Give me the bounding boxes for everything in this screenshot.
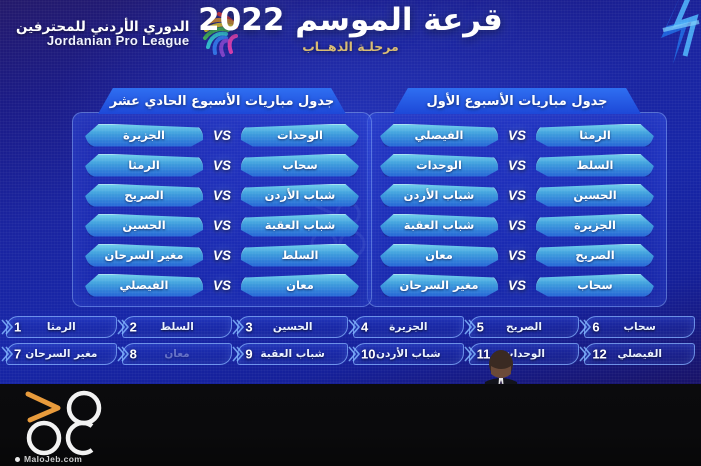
chevron-double-icon bbox=[232, 346, 244, 362]
away-team-pill[interactable]: شباب الأردن bbox=[380, 184, 498, 207]
team-name: الرمثا bbox=[579, 128, 611, 142]
team-number-row-one: 6 سحاب 5 الصريح 4 الجزيرة 3 الحسين bbox=[6, 316, 695, 338]
home-team-pill[interactable]: سحاب bbox=[536, 274, 654, 297]
match-row[interactable]: الرمثا VS الفيصلي bbox=[380, 123, 654, 147]
team-chip-name: الصريح bbox=[506, 321, 542, 333]
vs-label: VS bbox=[502, 278, 532, 293]
team-name: سحاب bbox=[282, 158, 317, 172]
team-chip-number: 2 bbox=[130, 320, 137, 335]
panel-week-one-header: جدول مباريات الأسبوع الأول bbox=[393, 88, 641, 114]
presentation-screenshot: الدوري الأردني للمحترفين Jordanian Pro L… bbox=[0, 0, 701, 466]
away-team-pill[interactable]: الصريح bbox=[85, 184, 203, 207]
team-chip[interactable]: 8 معان bbox=[122, 343, 233, 365]
vs-label: VS bbox=[502, 248, 532, 263]
panel-week-eleven: جدول مباريات الأسبوع الحادي عشر الوحدات … bbox=[72, 88, 372, 307]
watermark-bullet-icon bbox=[15, 457, 20, 462]
chevron-double-icon bbox=[348, 346, 360, 362]
team-chip[interactable]: 4 الجزيرة bbox=[353, 316, 464, 338]
team-chip[interactable]: 1 الرمثا bbox=[6, 316, 117, 338]
schedule-panels: جدول مباريات الأسبوع الأول الرمثا VS الف… bbox=[0, 88, 701, 308]
team-chip-name: الفيصلي bbox=[617, 348, 662, 360]
team-chip-number: 8 bbox=[130, 347, 137, 362]
home-team-pill[interactable]: شباب العقبة bbox=[241, 214, 359, 237]
chevron-double-icon bbox=[579, 346, 591, 362]
team-chip-number: 12 bbox=[592, 347, 606, 362]
page-subtitle: مرحلـة الذهــاب bbox=[0, 39, 701, 54]
chevron-double-icon bbox=[1, 319, 13, 335]
home-team-pill[interactable]: السلط bbox=[241, 244, 359, 267]
home-team-pill[interactable]: سحاب bbox=[241, 154, 359, 177]
panel-week-one-title: جدول مباريات الأسبوع الأول bbox=[426, 94, 607, 109]
away-team-pill[interactable]: مغير السرحان bbox=[380, 274, 498, 297]
match-row[interactable]: شباب الأردن VS الصريح bbox=[85, 183, 359, 207]
malojeb-logo-icon bbox=[14, 386, 126, 458]
team-number-row-two: 12 الفيصلي 11 الوحدات 10 شباب الأردن 9 ش… bbox=[6, 343, 695, 365]
team-chip-name: شباب الأردن bbox=[376, 348, 441, 360]
home-team-pill[interactable]: شباب الأردن bbox=[241, 184, 359, 207]
team-chip-number: 10 bbox=[361, 347, 375, 362]
match-row[interactable]: الجزيرة VS شباب العقبة bbox=[380, 213, 654, 237]
away-team-pill[interactable]: مغير السرحان bbox=[85, 244, 203, 267]
team-name: السلط bbox=[577, 158, 614, 172]
led-presentation-screen: الدوري الأردني للمحترفين Jordanian Pro L… bbox=[0, 0, 701, 386]
away-team-pill[interactable]: الفيصلي bbox=[85, 274, 203, 297]
panel-week-one-body: الرمثا VS الفيصلي السلط VS الوحدا bbox=[367, 112, 667, 307]
team-number-list: 6 سحاب 5 الصريح 4 الجزيرة 3 الحسين bbox=[0, 316, 701, 365]
match-row[interactable]: سحاب VS الرمثا bbox=[85, 153, 359, 177]
team-name: الرمثا bbox=[128, 158, 160, 172]
match-row[interactable]: السلط VS الوحدات bbox=[380, 153, 654, 177]
team-name: الفيصلي bbox=[415, 128, 464, 142]
away-team-pill[interactable]: معان bbox=[380, 244, 498, 267]
team-chip-number: 3 bbox=[245, 320, 252, 335]
away-team-pill[interactable]: الجزيرة bbox=[85, 124, 203, 147]
team-chip[interactable]: 5 الصريح bbox=[469, 316, 580, 338]
team-chip[interactable]: 3 الحسين bbox=[237, 316, 348, 338]
vs-label: VS bbox=[502, 188, 532, 203]
match-row[interactable]: الحسين VS شباب الأردن bbox=[380, 183, 654, 207]
team-name: شباب العقبة bbox=[404, 218, 475, 232]
team-name: شباب الأردن bbox=[404, 188, 475, 202]
watermark-site-label: MaloJeb.com bbox=[24, 454, 82, 464]
team-chip-number: 9 bbox=[245, 347, 252, 362]
vs-label: VS bbox=[207, 218, 237, 233]
home-team-pill[interactable]: الحسين bbox=[536, 184, 654, 207]
vs-label: VS bbox=[207, 158, 237, 173]
team-name: الجزيرة bbox=[574, 218, 616, 232]
away-team-pill[interactable]: شباب العقبة bbox=[380, 214, 498, 237]
team-name: مغير السرحان bbox=[400, 278, 479, 292]
home-team-pill[interactable]: الوحدات bbox=[241, 124, 359, 147]
team-chip[interactable]: 2 السلط bbox=[122, 316, 233, 338]
chevron-double-icon bbox=[117, 319, 129, 335]
match-row[interactable]: الوحدات VS الجزيرة bbox=[85, 123, 359, 147]
chevron-double-icon bbox=[1, 346, 13, 362]
away-team-pill[interactable]: الرمثا bbox=[85, 154, 203, 177]
title-block: قرعة الموسم 2022 مرحلـة الذهــاب bbox=[0, 2, 701, 54]
team-name: الوحدات bbox=[277, 128, 323, 142]
team-chip-name: معان bbox=[164, 348, 189, 360]
vs-label: VS bbox=[207, 248, 237, 263]
home-team-pill[interactable]: الصريح bbox=[536, 244, 654, 267]
home-team-pill[interactable]: الجزيرة bbox=[536, 214, 654, 237]
team-chip[interactable]: 9 شباب العقبة bbox=[237, 343, 348, 365]
panel-week-eleven-title: جدول مباريات الأسبوع الحادي عشر bbox=[110, 94, 335, 109]
match-row[interactable]: الصريح VS معان bbox=[380, 243, 654, 267]
vs-label: VS bbox=[207, 188, 237, 203]
team-chip-name: سحاب bbox=[623, 321, 655, 333]
team-name: معان bbox=[286, 278, 314, 292]
chevron-double-icon bbox=[348, 319, 360, 335]
team-chip-name: شباب العقبة bbox=[260, 348, 324, 360]
match-row[interactable]: سحاب VS مغير السرحان bbox=[380, 273, 654, 297]
home-team-pill[interactable]: الرمثا bbox=[536, 124, 654, 147]
team-chip[interactable]: 6 سحاب bbox=[584, 316, 695, 338]
chevron-double-icon bbox=[464, 319, 476, 335]
team-chip-number: 6 bbox=[592, 320, 599, 335]
match-row[interactable]: معان VS الفيصلي bbox=[85, 273, 359, 297]
away-team-pill[interactable]: الوحدات bbox=[380, 154, 498, 177]
team-name: الحسين bbox=[573, 188, 616, 202]
team-chip-name: الجزيرة bbox=[389, 321, 427, 333]
chevron-double-icon bbox=[117, 346, 129, 362]
away-team-pill[interactable]: الفيصلي bbox=[380, 124, 498, 147]
team-name: الوحدات bbox=[416, 158, 462, 172]
team-name: الفيصلي bbox=[120, 278, 169, 292]
vs-label: VS bbox=[207, 128, 237, 143]
vs-label: VS bbox=[207, 278, 237, 293]
match-row[interactable]: شباب العقبة VS الحسين bbox=[85, 213, 359, 237]
panel-week-eleven-body: الوحدات VS الجزيرة سحاب VS الرمثا bbox=[72, 112, 372, 307]
team-name: شباب الأردن bbox=[265, 188, 336, 202]
team-chip-name: الرمثا bbox=[47, 321, 76, 333]
home-team-pill[interactable]: معان bbox=[241, 274, 359, 297]
team-chip[interactable]: 12 الفيصلي bbox=[584, 343, 695, 365]
team-chip[interactable]: 7 مغير السرحان bbox=[6, 343, 117, 365]
team-name: مغير السرحان bbox=[105, 248, 184, 262]
team-name: سحاب bbox=[577, 278, 612, 292]
team-name: السلط bbox=[282, 248, 319, 262]
chevron-double-icon bbox=[579, 319, 591, 335]
team-chip-name: الحسين bbox=[273, 321, 313, 333]
team-name: الصريح bbox=[575, 248, 614, 262]
vs-label: VS bbox=[502, 128, 532, 143]
team-name: معان bbox=[425, 248, 453, 262]
home-team-pill[interactable]: السلط bbox=[536, 154, 654, 177]
team-chip-name: السلط bbox=[160, 321, 194, 333]
vs-label: VS bbox=[502, 158, 532, 173]
team-chip-number: 7 bbox=[14, 347, 21, 362]
team-chip-number: 5 bbox=[477, 320, 484, 335]
team-chip-number: 1 bbox=[14, 320, 21, 335]
match-row[interactable]: السلط VS مغير السرحان bbox=[85, 243, 359, 267]
chevron-double-icon bbox=[232, 319, 244, 335]
team-name: الصريح bbox=[124, 188, 163, 202]
team-chip[interactable]: 10 شباب الأردن bbox=[353, 343, 464, 365]
away-team-pill[interactable]: الحسين bbox=[85, 214, 203, 237]
vs-label: VS bbox=[502, 218, 532, 233]
panel-week-eleven-header: جدول مباريات الأسبوع الحادي عشر bbox=[98, 88, 346, 114]
panel-week-one: جدول مباريات الأسبوع الأول الرمثا VS الف… bbox=[367, 88, 667, 307]
team-name: الجزيرة bbox=[123, 128, 165, 142]
page-title: قرعة الموسم 2022 bbox=[0, 2, 701, 38]
team-name: الحسين bbox=[122, 218, 165, 232]
team-name: شباب العقبة bbox=[265, 218, 336, 232]
team-chip-number: 4 bbox=[361, 320, 368, 335]
team-chip-name: مغير السرحان bbox=[25, 348, 97, 360]
